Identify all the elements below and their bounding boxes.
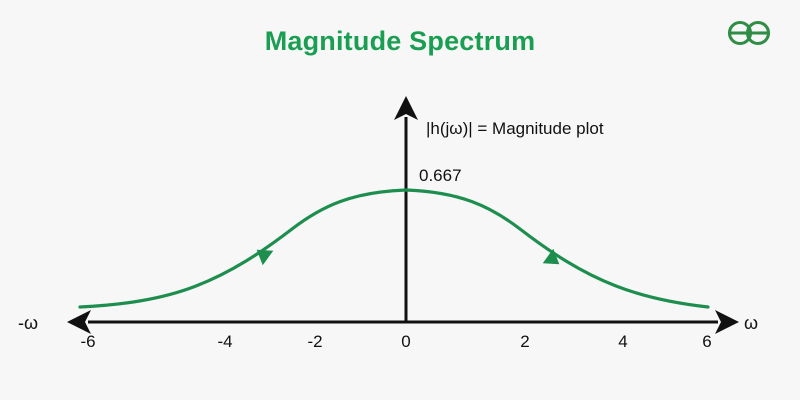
omega-label: ω — [744, 313, 758, 333]
x-tick-label-0: 0 — [401, 332, 410, 351]
magnitude-spectrum-figure: Magnitude Spectrum — [0, 0, 800, 400]
magnitude-curve — [80, 190, 708, 307]
x-tick-label--6: -6 — [80, 332, 95, 351]
y-axis-label: |h(jω)| = Magnitude plot — [426, 119, 604, 138]
plot-canvas: |h(jω)| = Magnitude plot 0.667 -6 -4 -2 … — [0, 0, 800, 400]
right-direction-arrow — [543, 249, 565, 272]
x-tick-label-2: 2 — [520, 332, 529, 351]
x-tick-label-4: 4 — [618, 332, 627, 351]
x-tick-label--2: -2 — [307, 332, 322, 351]
x-tick-label--4: -4 — [217, 332, 232, 351]
peak-value-label: 0.667 — [419, 166, 462, 185]
x-tick-label-6: 6 — [702, 332, 711, 351]
negative-omega-label: -ω — [18, 313, 38, 333]
